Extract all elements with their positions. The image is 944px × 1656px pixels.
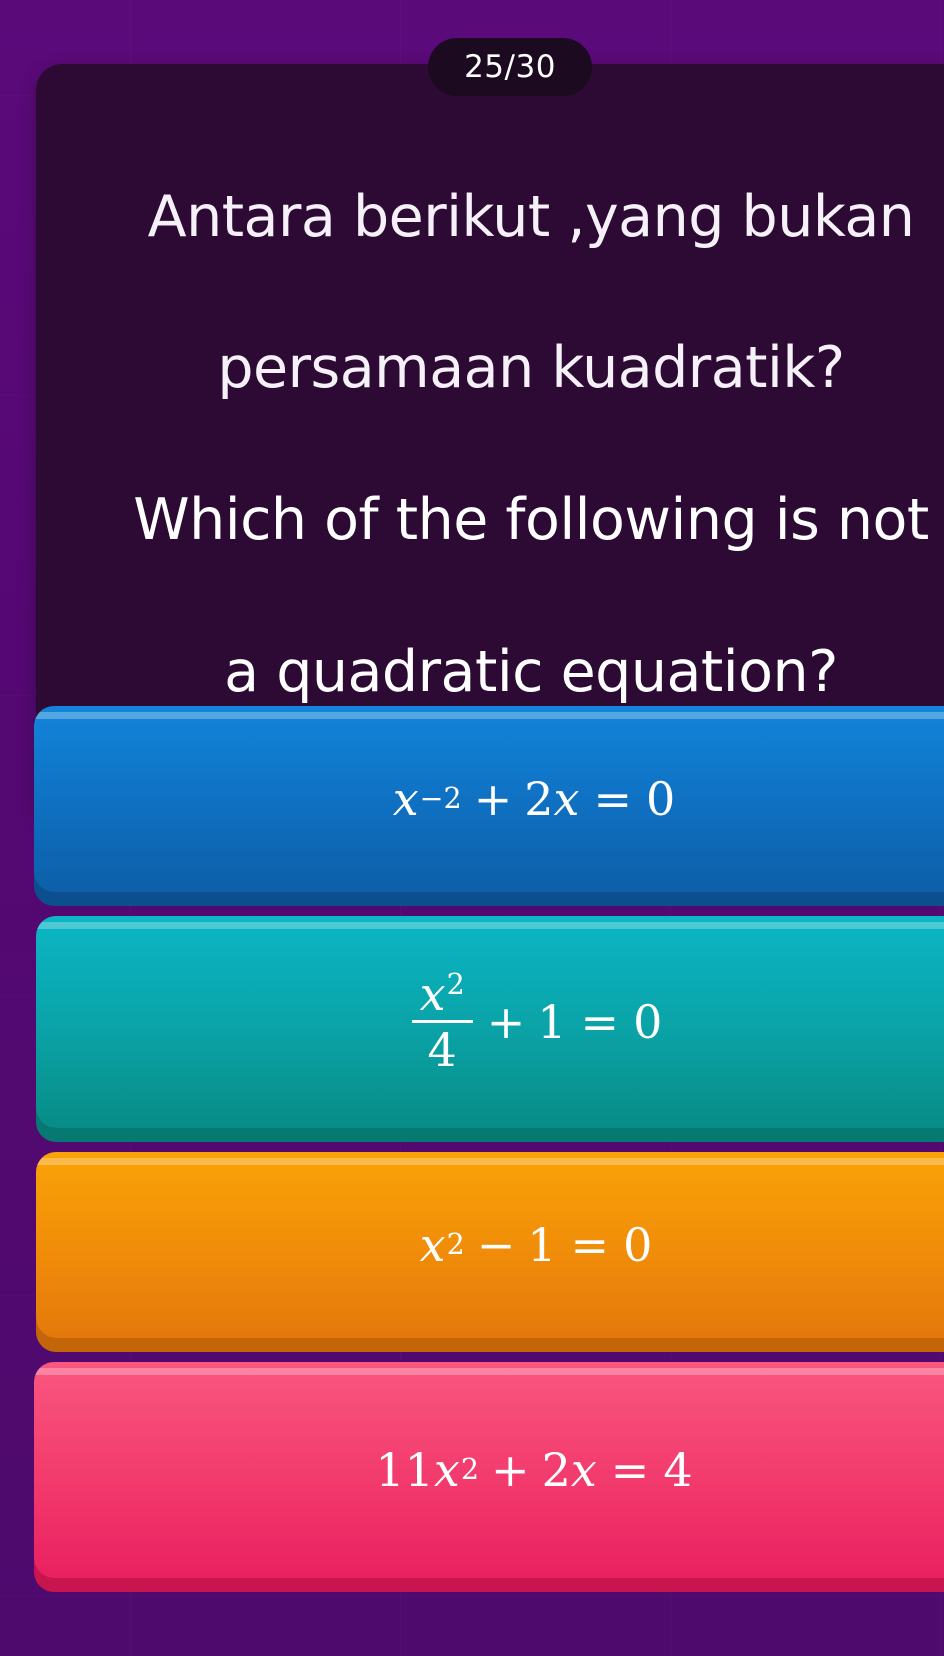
answer-equation-c: x2 − 1 = 0: [420, 1222, 653, 1268]
answer-option-b[interactable]: x2 4 + 1 = 0: [36, 916, 944, 1128]
eq-b-numerator-exponent: 2: [447, 968, 465, 1001]
eq-a-op: +: [474, 776, 513, 822]
option-sheen-c: [36, 1158, 944, 1165]
eq-b-equals: =: [581, 999, 620, 1045]
answer-option-d[interactable]: 11x2 + 2x = 4: [34, 1362, 944, 1578]
eq-d-coefficient-2: 2: [542, 1447, 571, 1493]
eq-b-numerator: x2: [412, 971, 473, 1020]
answer-option-c[interactable]: x2 − 1 = 0: [36, 1152, 944, 1338]
eq-d-base: x: [434, 1447, 460, 1493]
option-sheen-a: [34, 712, 944, 719]
eq-b-denominator: 4: [420, 1023, 465, 1073]
answer-options-list: x−2 + 2x = 0 x2 4 + 1 =: [0, 706, 944, 1602]
eq-d-equals: =: [611, 1447, 650, 1493]
question-line-malay-2: persamaan kuadratik?: [70, 331, 944, 407]
answer-equation-a: x−2 + 2x = 0: [393, 776, 676, 822]
eq-d-var-2: x: [571, 1447, 597, 1493]
question-line-english-2: a quadratic equation?: [70, 635, 944, 711]
eq-d-rhs: 4: [663, 1447, 692, 1493]
eq-a-coefficient: 2: [524, 776, 553, 822]
eq-c-rhs: 0: [623, 1222, 652, 1268]
eq-b-op: +: [487, 999, 526, 1045]
eq-a-base: x: [393, 776, 419, 822]
answer-option-a[interactable]: x−2 + 2x = 0: [34, 706, 944, 892]
option-sheen-d: [34, 1368, 944, 1375]
answer-equation-d: 11x2 + 2x = 4: [375, 1447, 692, 1493]
question-text: Antara berikut ,yang bukan persamaan kua…: [70, 104, 944, 786]
eq-b-rhs: 0: [633, 999, 662, 1045]
eq-d-op: +: [491, 1447, 530, 1493]
eq-a-var: x: [554, 776, 580, 822]
eq-c-base: x: [420, 1222, 446, 1268]
eq-d-coefficient: 11: [375, 1447, 434, 1493]
eq-c-term: 1: [527, 1222, 556, 1268]
eq-b-numerator-base: x: [420, 967, 446, 1021]
eq-a-equals: =: [593, 776, 632, 822]
quiz-screen: Antara berikut ,yang bukan persamaan kua…: [0, 0, 944, 1656]
quiz-content-column: Antara berikut ,yang bukan persamaan kua…: [0, 0, 944, 1656]
answer-equation-b: x2 4 + 1 = 0: [410, 971, 663, 1073]
eq-b-fraction: x2 4: [412, 971, 473, 1073]
eq-b-term: 1: [537, 999, 566, 1045]
eq-c-op: −: [477, 1222, 516, 1268]
eq-a-rhs: 0: [646, 776, 675, 822]
eq-c-equals: =: [571, 1222, 610, 1268]
question-line-malay-1: Antara berikut ,yang bukan: [70, 180, 944, 256]
option-sheen-b: [36, 922, 944, 929]
question-line-english-1: Which of the following is not: [70, 483, 944, 559]
progress-badge: 25/30: [428, 38, 592, 96]
